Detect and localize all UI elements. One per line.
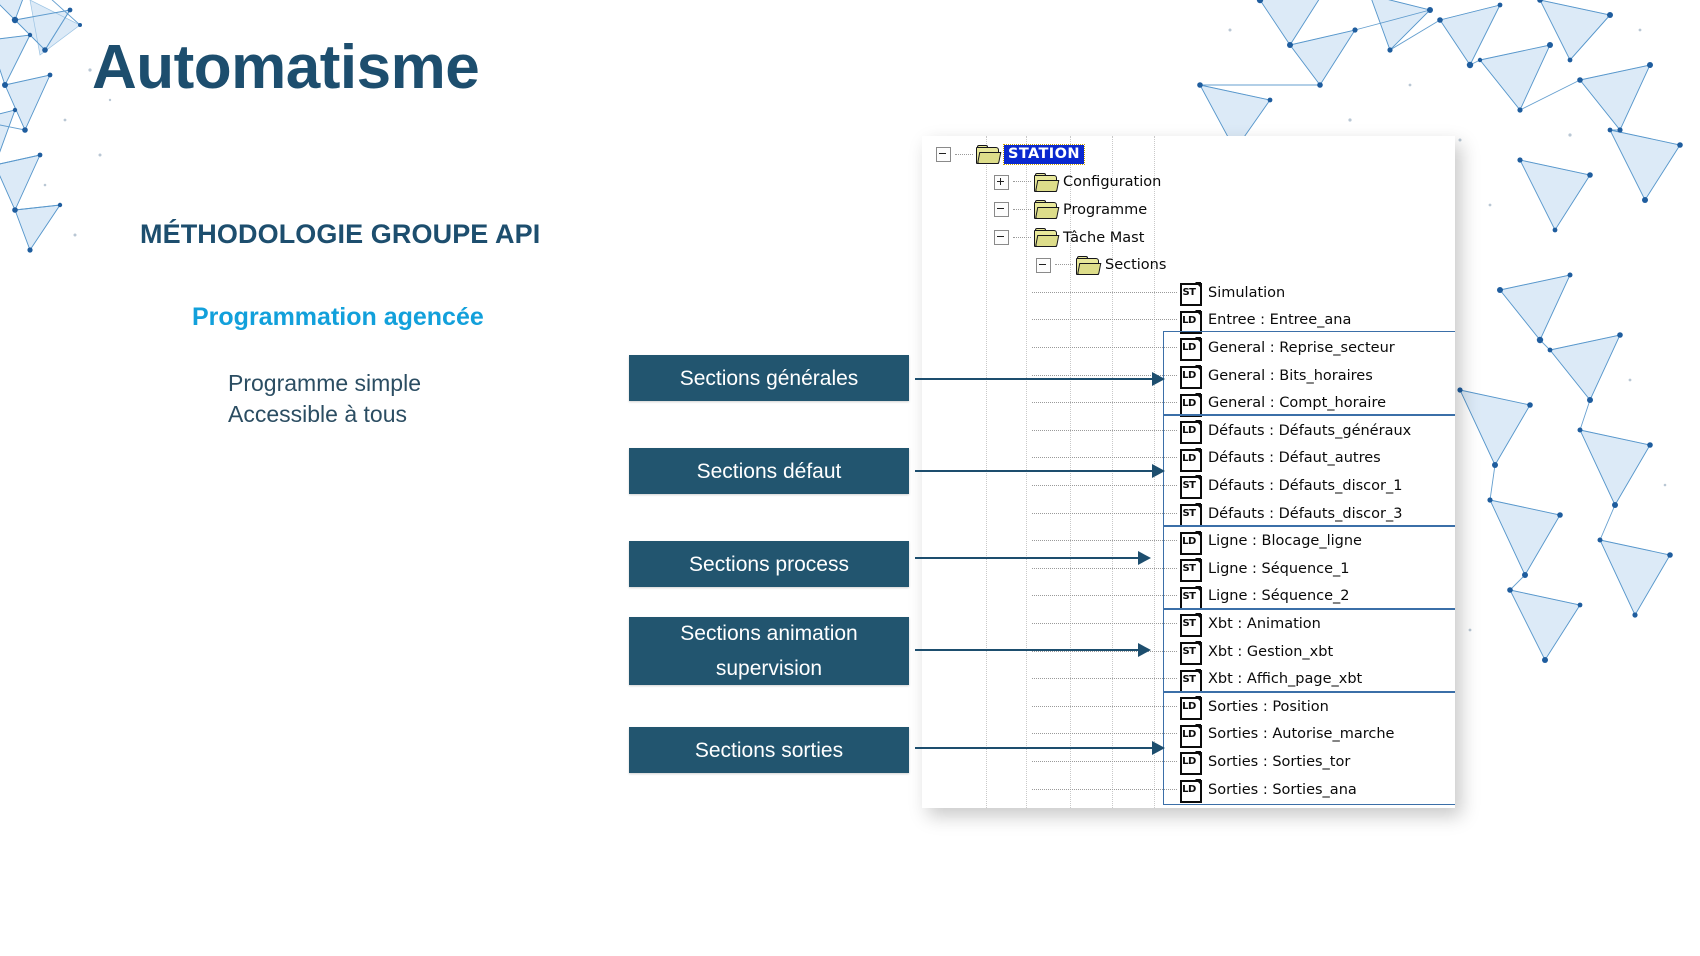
tree-item[interactable]: Configuration — [994, 169, 1161, 197]
tree-item[interactable]: STXbt : Animation — [1032, 610, 1321, 638]
collapse-toggle-icon[interactable] — [936, 147, 951, 162]
tree-item[interactable]: Tâche Mast — [994, 224, 1144, 252]
tree-connector — [1032, 402, 1177, 404]
ld-section-icon: LD — [1180, 779, 1200, 800]
tree-connector — [1032, 733, 1177, 735]
tree-connector — [1013, 237, 1031, 239]
tree-item-label[interactable]: Sorties : Sorties_ana — [1207, 782, 1357, 798]
tree-connector — [1032, 513, 1177, 515]
tree-connector — [955, 154, 973, 156]
tree-item[interactable]: STATION — [936, 141, 1084, 169]
st-section-icon: ST — [1180, 558, 1200, 579]
tree-item-label[interactable]: Xbt : Animation — [1207, 616, 1321, 632]
ld-section-icon: LD — [1180, 337, 1200, 358]
tree-connector — [1032, 623, 1177, 625]
tree-item-label[interactable]: General : Compt_horaire — [1207, 395, 1386, 411]
tree-item-label[interactable]: Défauts : Défaut_autres — [1207, 450, 1381, 466]
ld-section-icon: LD — [1180, 420, 1200, 441]
tree-connector — [1013, 209, 1031, 211]
ld-section-icon: LD — [1180, 365, 1200, 386]
callout-sections-defaut: Sections défaut — [629, 448, 909, 494]
tree-item[interactable]: STDéfauts : Défauts_discor_3 — [1032, 500, 1402, 528]
arrow-to-sections-generales — [915, 369, 1165, 389]
folder-icon — [1034, 174, 1056, 191]
ld-section-icon: LD — [1180, 448, 1200, 469]
tree-item[interactable]: Sections — [1036, 251, 1166, 279]
tree-item-label[interactable]: Entree : Entree_ana — [1207, 312, 1351, 328]
tree-item[interactable]: LDEntree : Entree_ana — [1032, 307, 1351, 335]
arrow-to-sections-process — [915, 548, 1151, 568]
tree-item-label[interactable]: General : Bits_horaires — [1207, 368, 1373, 384]
tree-connector — [1032, 595, 1177, 597]
tree-connector — [1032, 706, 1177, 708]
tree-item-label[interactable]: Ligne : Séquence_1 — [1207, 561, 1350, 577]
st-section-icon: ST — [1180, 503, 1200, 524]
tree-item[interactable]: LDSorties : Position — [1032, 693, 1329, 721]
ld-section-icon: LD — [1180, 751, 1200, 772]
tree-connector — [1032, 485, 1177, 487]
subsection-heading: Programmation agencée — [192, 303, 484, 332]
tree-item-label[interactable]: Xbt : Affich_page_xbt — [1207, 671, 1362, 687]
tree-item-label[interactable]: Défauts : Défauts_généraux — [1207, 423, 1411, 439]
tree-item[interactable]: LDDéfauts : Défauts_généraux — [1032, 417, 1411, 445]
ld-section-icon: LD — [1180, 310, 1200, 331]
tree-connector — [1032, 568, 1177, 570]
tree-connector — [1032, 430, 1177, 432]
arrow-to-sections-sorties — [915, 738, 1165, 758]
tree-item-label[interactable]: Sorties : Autorise_marche — [1207, 726, 1394, 742]
ld-section-icon: LD — [1180, 696, 1200, 717]
folder-icon — [1076, 257, 1098, 274]
callout-sections-generales: Sections générales — [629, 355, 909, 401]
folder-icon — [1034, 229, 1056, 246]
ld-section-icon: LD — [1180, 724, 1200, 745]
arrow-to-sections-animation — [915, 640, 1151, 660]
st-section-icon: ST — [1180, 282, 1200, 303]
st-section-icon: ST — [1180, 669, 1200, 690]
tree-item-label[interactable]: STATION — [1004, 145, 1084, 164]
folder-icon — [1034, 201, 1056, 218]
tree-item[interactable]: LDGeneral : Reprise_secteur — [1032, 334, 1395, 362]
tree-connector — [1032, 540, 1177, 542]
tree-item[interactable]: STXbt : Affich_page_xbt — [1032, 665, 1362, 693]
tree-connector — [1032, 292, 1177, 294]
tree-item-label[interactable]: Défauts : Défauts_discor_1 — [1207, 478, 1402, 494]
ld-section-icon: LD — [1180, 531, 1200, 552]
tree-item-label[interactable]: Ligne : Séquence_2 — [1207, 588, 1350, 604]
tree-item[interactable]: LDSorties : Sorties_ana — [1032, 776, 1357, 804]
tree-item-label[interactable]: Configuration — [1062, 174, 1161, 190]
callout-sections-process: Sections process — [629, 541, 909, 587]
tree-connector — [1013, 181, 1031, 183]
collapse-toggle-icon[interactable] — [994, 202, 1009, 217]
tree-item-label[interactable]: Sections — [1104, 257, 1166, 273]
tree-item[interactable]: STSimulation — [1032, 279, 1285, 307]
tree-item-label[interactable]: Sorties : Position — [1207, 699, 1329, 715]
expand-toggle-icon[interactable] — [994, 175, 1009, 190]
tree-item-label[interactable]: Défauts : Défauts_discor_3 — [1207, 506, 1402, 522]
page-title: Automatisme — [92, 32, 479, 103]
tree-item-label[interactable]: Programme — [1062, 202, 1147, 218]
tree-connector — [1032, 347, 1177, 349]
tree-item[interactable]: Programme — [994, 196, 1147, 224]
callout-sections-sorties: Sections sorties — [629, 727, 909, 773]
ld-section-icon: LD — [1180, 393, 1200, 414]
tree-item[interactable]: LDGeneral : Compt_horaire — [1032, 389, 1386, 417]
tree-item-label[interactable]: Ligne : Blocage_ligne — [1207, 533, 1362, 549]
tree-connector — [1032, 789, 1177, 791]
arrow-to-sections-defaut — [915, 461, 1165, 481]
tree-item-label[interactable]: Simulation — [1207, 285, 1285, 301]
bullet-list: Programme simple Accessible à tous — [228, 368, 421, 430]
collapse-toggle-icon[interactable] — [994, 230, 1009, 245]
tree-connector — [1032, 319, 1177, 321]
tree-item[interactable]: STLigne : Séquence_2 — [1032, 583, 1350, 611]
tree-connector — [1055, 264, 1073, 266]
tree-item-label[interactable]: Sorties : Sorties_tor — [1207, 754, 1350, 770]
tree-connector — [1032, 678, 1177, 680]
tree-connector — [1032, 761, 1177, 763]
tree-item-label[interactable]: Tâche Mast — [1062, 230, 1144, 246]
st-section-icon: ST — [1180, 586, 1200, 607]
st-section-icon: ST — [1180, 613, 1200, 634]
section-heading: MÉTHODOLOGIE GROUPE API — [140, 219, 540, 250]
callout-sections-animation-supervision: Sections animation supervision — [629, 617, 909, 685]
tree-item-label[interactable]: Xbt : Gestion_xbt — [1207, 644, 1333, 660]
tree-item-label[interactable]: General : Reprise_secteur — [1207, 340, 1395, 356]
collapse-toggle-icon[interactable] — [1036, 258, 1051, 273]
bullet-item: Programme simple — [228, 368, 421, 399]
st-section-icon: ST — [1180, 475, 1200, 496]
folder-icon — [976, 146, 998, 163]
st-section-icon: ST — [1180, 641, 1200, 662]
bullet-item: Accessible à tous — [228, 399, 421, 430]
tree-connector — [1032, 457, 1177, 459]
